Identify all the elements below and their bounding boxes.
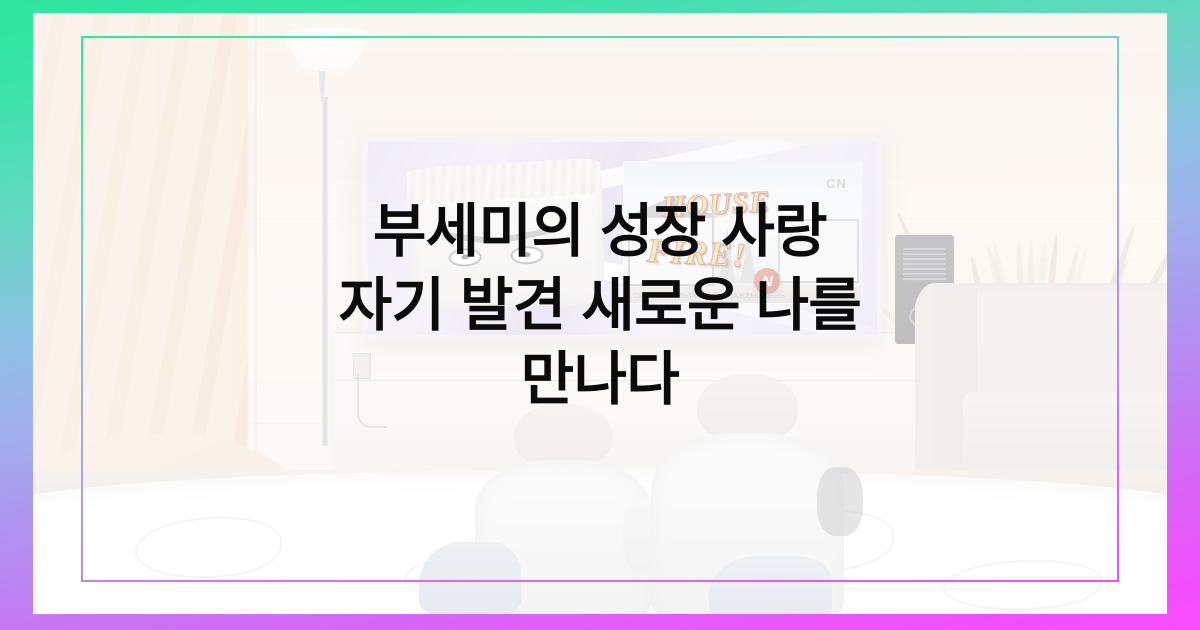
tv-title-word-top: HOUSE — [661, 185, 771, 225]
cartoon-character — [406, 166, 604, 311]
person-right — [651, 374, 844, 614]
speaker-grill — [903, 248, 945, 283]
thumbnail-card: CN HOUSE FIRE! N СМОТРИ МУЛЬТФИЛЬМЫ КАЖД… — [0, 0, 1200, 630]
person-jeans — [709, 556, 832, 614]
lamp-pole — [322, 97, 328, 446]
cartoon-eye — [448, 248, 482, 267]
tv-title-word-bottom: FIRE! — [647, 233, 748, 276]
person-arm — [817, 467, 863, 536]
power-cable — [357, 374, 386, 428]
person-jeans — [419, 542, 521, 614]
tv-title-card: CN HOUSE FIRE! N СМОТРИ МУЛЬТФИЛЬМЫ КАЖД… — [623, 161, 863, 303]
tv-subtitle: СМОТРИ МУЛЬТФИЛЬМЫ КАЖДЫЙ ДЕНЬ — [633, 293, 785, 300]
rug-pattern — [135, 517, 282, 578]
cartoon-brow — [505, 228, 548, 242]
person-left — [475, 404, 651, 614]
couch-seat — [963, 392, 1167, 480]
network-logo: CN — [826, 176, 847, 191]
cartoon-eye — [510, 245, 544, 264]
person-head — [514, 404, 612, 469]
channel-badge: N — [754, 268, 780, 294]
cartoon-hair — [406, 158, 601, 206]
wall-seam — [254, 13, 257, 482]
cartoon-brow — [441, 232, 484, 243]
rug-pattern — [943, 560, 1102, 610]
tv-screen: CN HOUSE FIRE! N СМОТРИ МУЛЬТФИЛЬМЫ КАЖД… — [368, 142, 878, 334]
house-icon — [778, 219, 859, 284]
background-photo: CN HOUSE FIRE! N СМОТРИ МУЛЬТФИЛЬМЫ КАЖД… — [33, 13, 1167, 614]
living-room-scene: CN HOUSE FIRE! N СМОТРИ МУЛЬТФИЛЬМЫ КАЖД… — [33, 13, 1167, 614]
television: CN HOUSE FIRE! N СМОТРИ МУЛЬТФИЛЬМЫ КАЖД… — [362, 136, 884, 340]
